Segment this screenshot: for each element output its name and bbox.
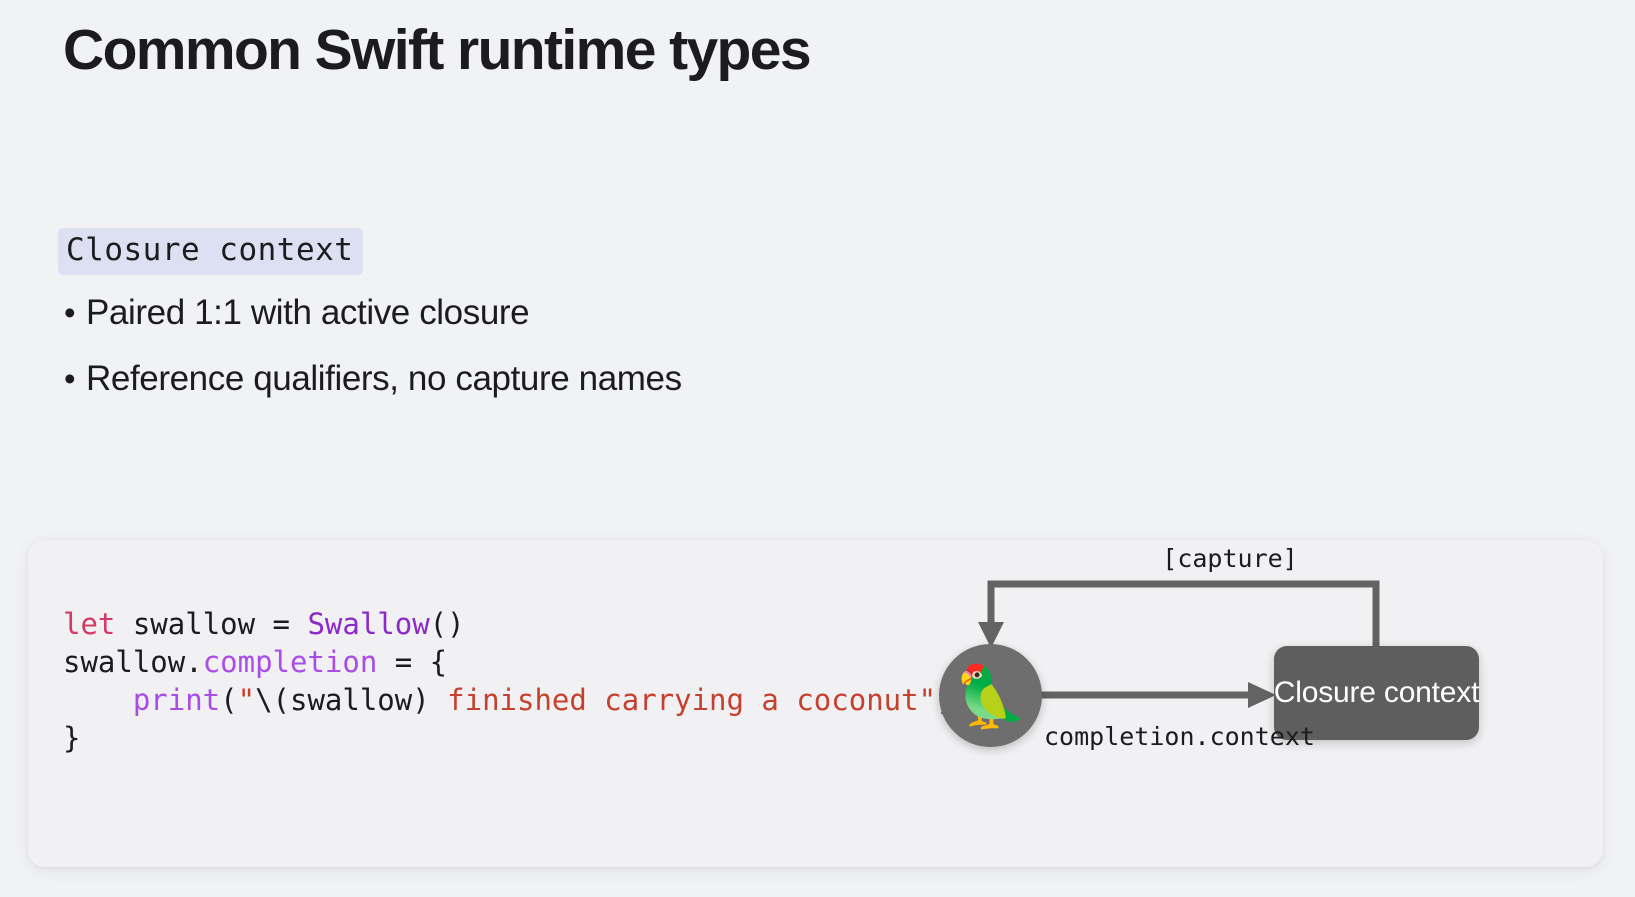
code-token: completion [203,645,378,679]
code-token: print [133,683,220,717]
code-line: let swallow = Swallow() [63,605,954,643]
code-token: " [238,683,255,717]
code-line: } [63,719,954,757]
code-token: = { [377,645,447,679]
section-chip-closure-context: Closure context [58,228,363,275]
bullet-text: Reference qualifiers, no capture names [86,355,682,402]
code-token [63,683,133,717]
code-token: \(swallow) [255,683,430,717]
list-item: • Paired 1:1 with active closure [64,289,964,355]
bullet-marker-icon: • [64,289,86,336]
code-line: swallow.completion = { [63,643,954,681]
page-title: Common Swift runtime types [63,16,810,84]
code-token: swallow. [63,645,203,679]
code-token: swallow = [115,607,307,641]
bullet-marker-icon: • [64,355,86,402]
code-token: Swallow [307,607,429,641]
bullet-list: • Paired 1:1 with active closure • Refer… [64,289,964,421]
code-token: finished carrying a coconut" [430,683,936,717]
code-block: let swallow = Swallow()swallow.completio… [63,605,954,757]
object-node: 🦜 [939,644,1042,747]
list-item: • Reference qualifiers, no capture names [64,355,964,421]
capture-arrow-path [991,584,1376,646]
parrot-icon: 🦜 [953,667,1028,727]
capture-edge-label: [capture] [1115,544,1345,573]
code-token: () [430,607,465,641]
completion-context-edge-label: completion.context [1044,722,1315,751]
code-token: } [63,721,80,755]
code-line: print("\(swallow) finished carrying a co… [63,681,954,719]
code-token: let [63,607,115,641]
illustration-card: let swallow = Swallow()swallow.completio… [28,540,1603,867]
closure-context-diagram: [capture] 🦜 Closure context completion.c… [908,540,1603,867]
context-arrow-head [1248,682,1276,708]
code-token: ( [220,683,237,717]
bullet-text: Paired 1:1 with active closure [86,289,529,336]
